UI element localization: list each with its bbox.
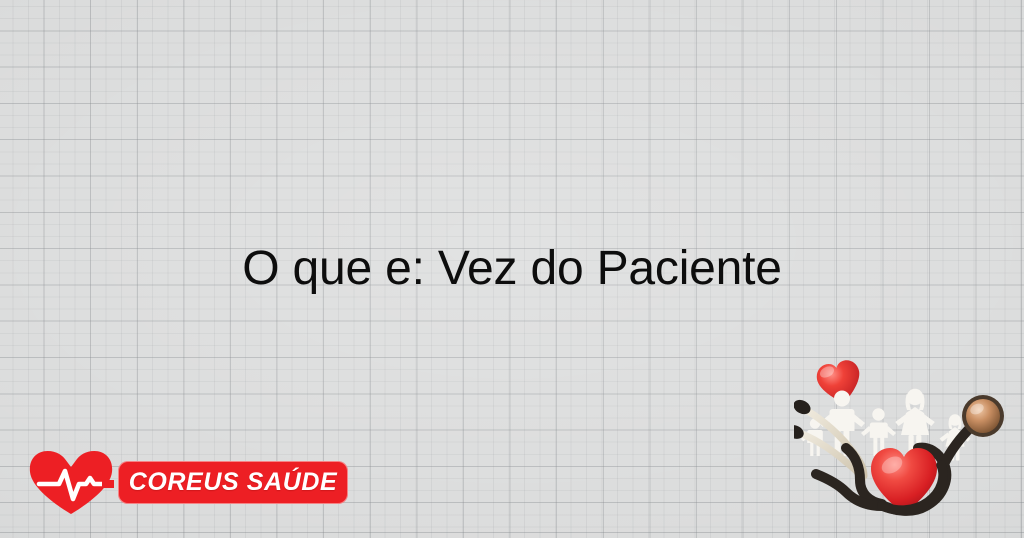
stethoscope-chest-piece xyxy=(962,395,1004,437)
slide-canvas: O que e: Vez do Paciente COREUS SAÚDE xyxy=(0,0,1024,538)
heart-ecg-icon xyxy=(28,450,114,516)
page-title: O que e: Vez do Paciente xyxy=(0,240,1024,298)
brand-badge-label: COREUS SAÚDE xyxy=(129,468,338,497)
brand-logo[interactable]: COREUS SAÚDE xyxy=(28,450,348,518)
brand-badge: COREUS SAÚDE xyxy=(118,461,348,504)
medical-illustration xyxy=(794,356,1020,538)
